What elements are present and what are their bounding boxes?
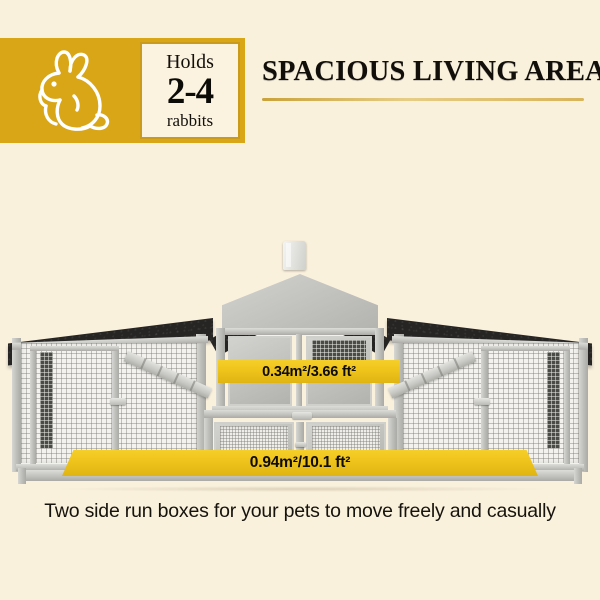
left-run-door-latch[interactable] xyxy=(110,398,126,405)
title-block: SPACIOUS LIVING AREA xyxy=(262,58,592,101)
right-run-outer-post xyxy=(579,338,588,472)
chimney-vent xyxy=(283,241,306,270)
center-lower-handle[interactable] xyxy=(292,412,312,419)
ground-shadow xyxy=(56,486,548,492)
right-run-door-right-post xyxy=(564,346,570,464)
product-image: 0.34m²/3.66 ft² 0.94m²/10.1 ft² xyxy=(0,236,600,491)
capacity-badge: Holds 2-4 rabbits xyxy=(0,38,245,143)
unit-label: rabbits xyxy=(167,112,213,129)
right-run-door-top xyxy=(481,346,570,351)
left-run-door-top xyxy=(30,346,119,351)
title-underline xyxy=(262,98,584,101)
base-left-foot xyxy=(18,468,26,484)
left-run-door-right-post xyxy=(112,346,119,464)
base-right-foot xyxy=(574,468,582,484)
rabbit-icon xyxy=(12,44,122,139)
left-run-door-left-post xyxy=(30,346,36,464)
capacity-box: Holds 2-4 rabbits xyxy=(140,42,240,139)
holds-label: Holds xyxy=(166,52,214,72)
page-title: SPACIOUS LIVING AREA xyxy=(262,58,592,87)
center-lower-latch[interactable] xyxy=(295,442,306,447)
lower-area-label: 0.94m²/10.1 ft² xyxy=(250,454,350,472)
right-run-door-latch[interactable] xyxy=(474,398,490,405)
caption-text: Two side run boxes for your pets to move… xyxy=(0,500,600,523)
lower-area-band: 0.94m²/10.1 ft² xyxy=(62,450,538,476)
right-run-vent-mesh xyxy=(547,352,560,448)
right-run-door-left-post xyxy=(481,346,488,464)
upper-area-label: 0.34m²/3.66 ft² xyxy=(262,364,356,380)
upper-area-band: 0.34m²/3.66 ft² xyxy=(218,360,400,383)
header: Holds 2-4 rabbits SPACIOUS LIVING AREA xyxy=(0,38,600,143)
capacity-value: 2-4 xyxy=(167,73,213,111)
left-run-vent-mesh xyxy=(40,352,53,448)
left-run-outer-post xyxy=(12,338,21,472)
product-feature-banner: Holds 2-4 rabbits SPACIOUS LIVING AREA xyxy=(0,0,600,600)
